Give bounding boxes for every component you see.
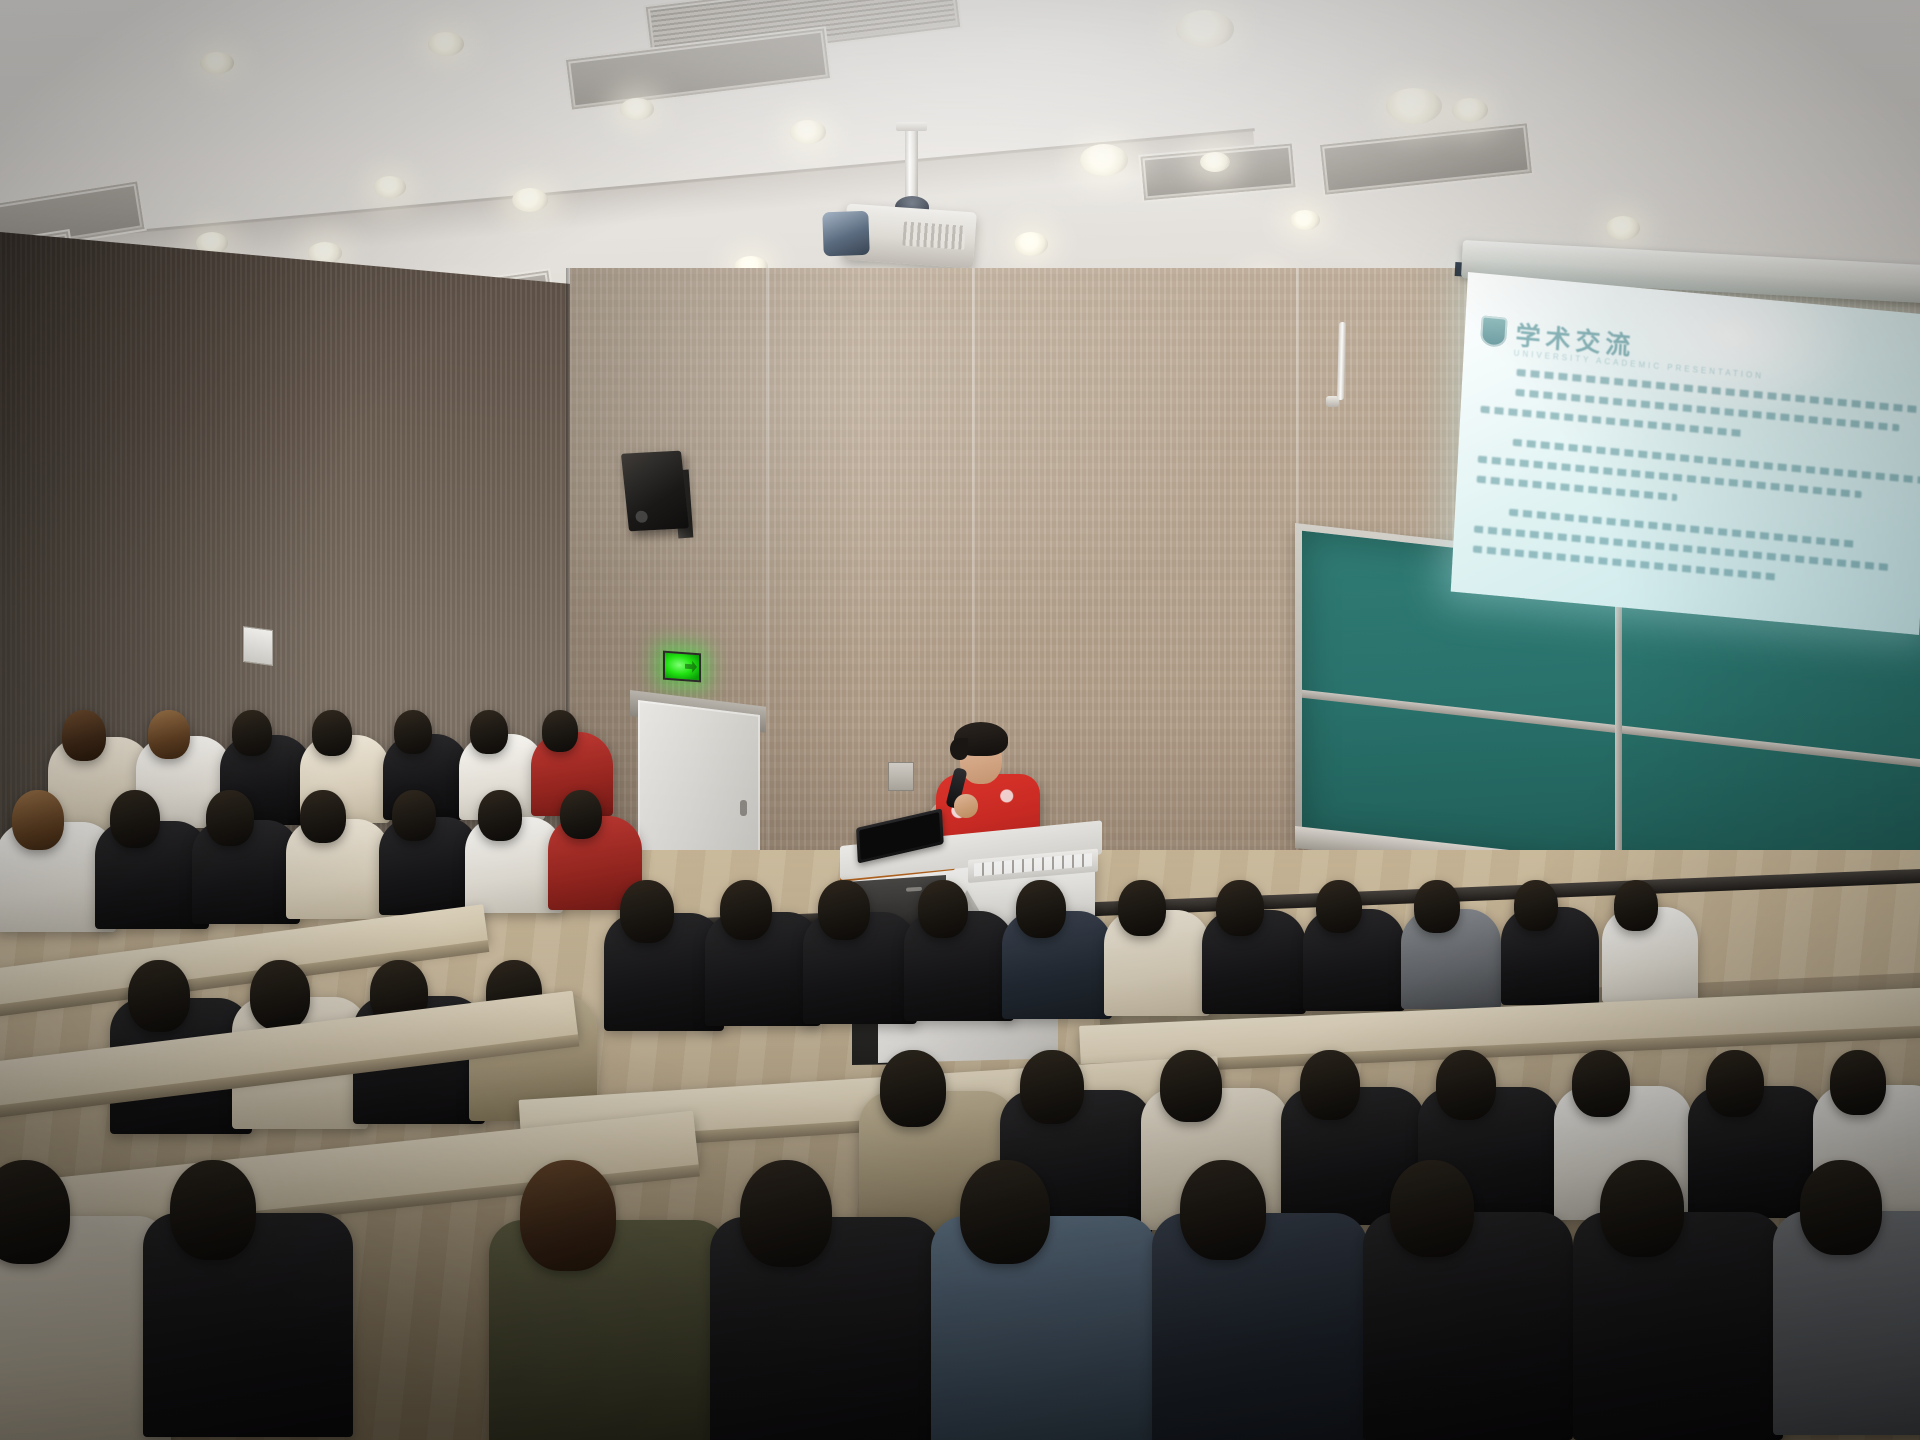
lecture-hall-photo: 学术交流 UNIVERSITY ACADEMIC PRESENTATION — [0, 0, 1920, 1440]
audience-head — [960, 1160, 1050, 1264]
audience-head — [1118, 880, 1166, 936]
audience-torso — [1573, 1212, 1783, 1440]
audience-head — [1020, 1050, 1084, 1124]
university-crest-icon — [1480, 315, 1508, 347]
audience-head — [394, 710, 432, 754]
audience-head — [1180, 1160, 1266, 1260]
ceiling-downlight — [512, 188, 548, 212]
audience-torso — [931, 1216, 1157, 1440]
audience-head — [1160, 1050, 1222, 1122]
slide-body — [1471, 366, 1919, 626]
ceiling-downlight — [1014, 232, 1048, 256]
audience-head — [1514, 880, 1558, 931]
projector-mount-pole — [905, 128, 918, 214]
audience-head — [1390, 1160, 1474, 1257]
audience-head — [1216, 880, 1264, 936]
audience-head — [206, 790, 254, 846]
audience-head — [1414, 880, 1460, 933]
audience-head — [12, 790, 64, 850]
audience-torso — [1152, 1213, 1368, 1440]
audience-head — [620, 880, 674, 943]
ceiling-downlight — [620, 98, 654, 120]
audience-head — [918, 880, 968, 938]
audience-head — [312, 710, 352, 756]
ceiling-downlight — [1606, 216, 1640, 240]
light-switch-plate[interactable] — [243, 626, 273, 666]
presenter-hand — [954, 794, 978, 818]
audience-head — [1800, 1160, 1882, 1255]
ceiling-projector — [843, 204, 977, 269]
audience-head — [1706, 1050, 1764, 1117]
audience-head — [478, 790, 522, 841]
audience-head — [148, 710, 190, 759]
wall-speaker — [621, 451, 689, 532]
hvac-vent — [1318, 121, 1534, 197]
door-handle[interactable] — [740, 800, 747, 816]
audience-head — [128, 960, 190, 1032]
board-divider — [1302, 690, 1920, 773]
audience-head — [1300, 1050, 1360, 1120]
audience-head — [1614, 880, 1658, 931]
board-divider-vertical — [1615, 566, 1622, 873]
audience-head — [880, 1050, 946, 1127]
audience-torso — [143, 1213, 353, 1437]
audience-head — [170, 1160, 256, 1260]
ceiling-downlight — [1176, 10, 1234, 48]
audience-head — [520, 1160, 616, 1271]
ceiling-downlight — [1386, 88, 1442, 124]
ceiling-downlight — [1200, 152, 1230, 172]
ceiling-downlight — [428, 32, 464, 56]
ceiling-downlight — [790, 120, 826, 144]
projection-screen[interactable]: 学术交流 UNIVERSITY ACADEMIC PRESENTATION — [1451, 272, 1920, 635]
audience-head — [1436, 1050, 1496, 1120]
hvac-vent — [1138, 141, 1298, 202]
exit-sign-icon — [663, 651, 701, 683]
audience-head — [818, 880, 870, 940]
hvac-vent — [564, 26, 833, 112]
audience-head — [720, 880, 772, 940]
audience-head — [392, 790, 436, 841]
audience-head — [300, 790, 346, 843]
audience-head — [1600, 1160, 1684, 1257]
audience-head — [232, 710, 272, 756]
wall-access-panel — [888, 762, 914, 791]
presenter-hair — [954, 722, 1008, 756]
audience-head — [740, 1160, 832, 1267]
hvac-vent — [643, 0, 962, 67]
ceiling-downlight — [1290, 210, 1320, 230]
audience-head — [1016, 880, 1066, 938]
ceiling-downlight — [1452, 98, 1488, 122]
audience-head — [1316, 880, 1362, 933]
audience-torso — [1363, 1212, 1573, 1440]
audience-head — [250, 960, 310, 1030]
audience-head — [62, 710, 106, 761]
audience-torso — [710, 1217, 940, 1440]
audience-head — [1830, 1050, 1886, 1115]
ceiling-downlight — [374, 176, 406, 198]
ceiling-downlight — [1080, 144, 1128, 176]
ceiling-downlight — [930, 228, 964, 252]
audience-head — [560, 790, 602, 839]
projector-ball-mount — [895, 196, 929, 218]
audience-head — [1572, 1050, 1630, 1117]
wall-seam — [766, 268, 769, 908]
audience-torso — [489, 1220, 729, 1440]
ceiling-downlight — [200, 52, 234, 74]
audience-head — [542, 710, 578, 752]
audience-head — [470, 710, 508, 754]
audience-head — [110, 790, 160, 848]
